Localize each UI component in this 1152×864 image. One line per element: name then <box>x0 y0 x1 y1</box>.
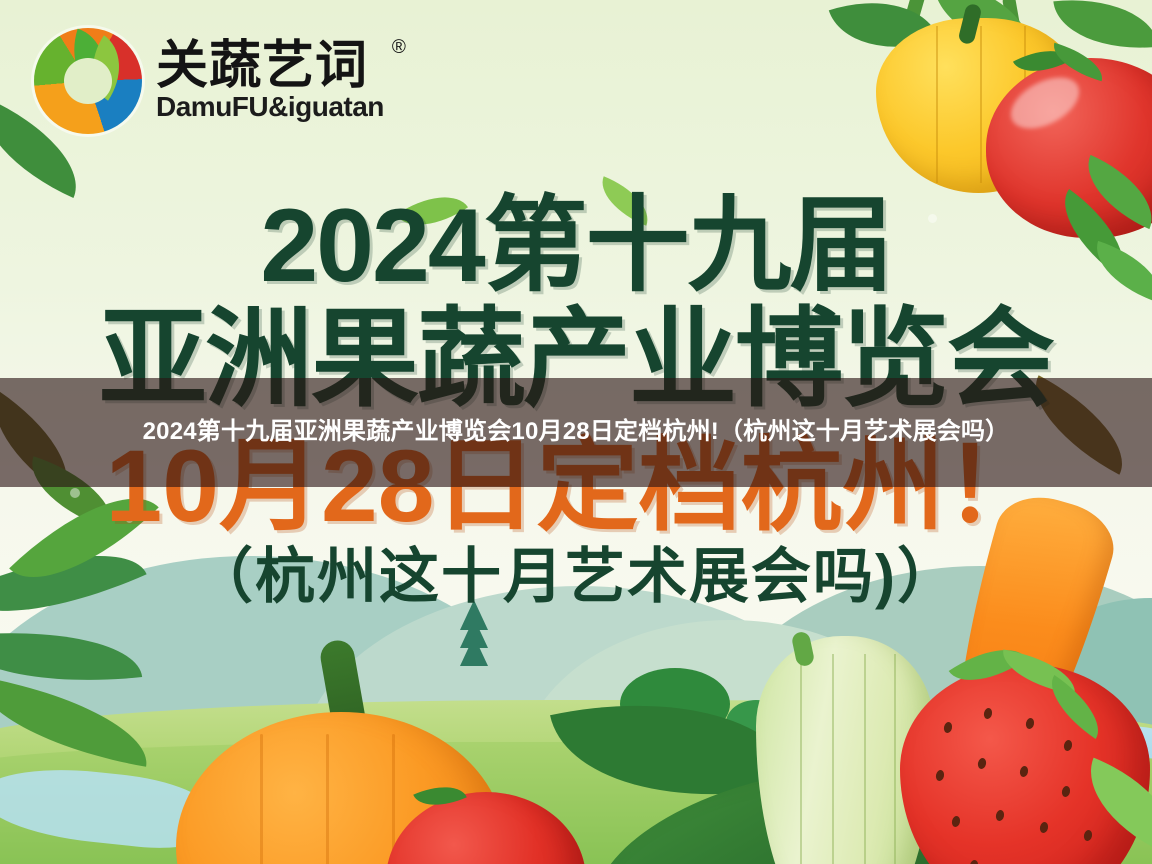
caption-overlay-band: 2024第十九届亚洲果蔬产业博览会10月28日定档杭州!（杭州这十月艺术展会吗） <box>0 378 1152 487</box>
poster-subtitle-line: （杭州这十月艺术展会吗)） <box>0 528 1152 615</box>
poster-image: 关蔬艺词 ® DamuFU&iguatan 2024第十九届 亚洲果蔬产业博览会… <box>0 0 1152 864</box>
brand-text: 关蔬艺词 ® DamuFU&iguatan <box>156 39 384 124</box>
caption-text: 2024第十九届亚洲果蔬产业博览会10月28日定档杭州!（杭州这十月艺术展会吗） <box>109 415 1044 449</box>
brand-name-latin: DamuFU&iguatan <box>156 91 384 123</box>
circular-swirl-leaf-emblem-icon <box>34 28 142 134</box>
brand-name-cn: 关蔬艺词 <box>156 39 384 94</box>
strawberry <box>900 664 1150 864</box>
registered-trademark-icon: ® <box>392 37 406 59</box>
brand-logo: 关蔬艺词 ® DamuFU&iguatan <box>34 28 384 134</box>
